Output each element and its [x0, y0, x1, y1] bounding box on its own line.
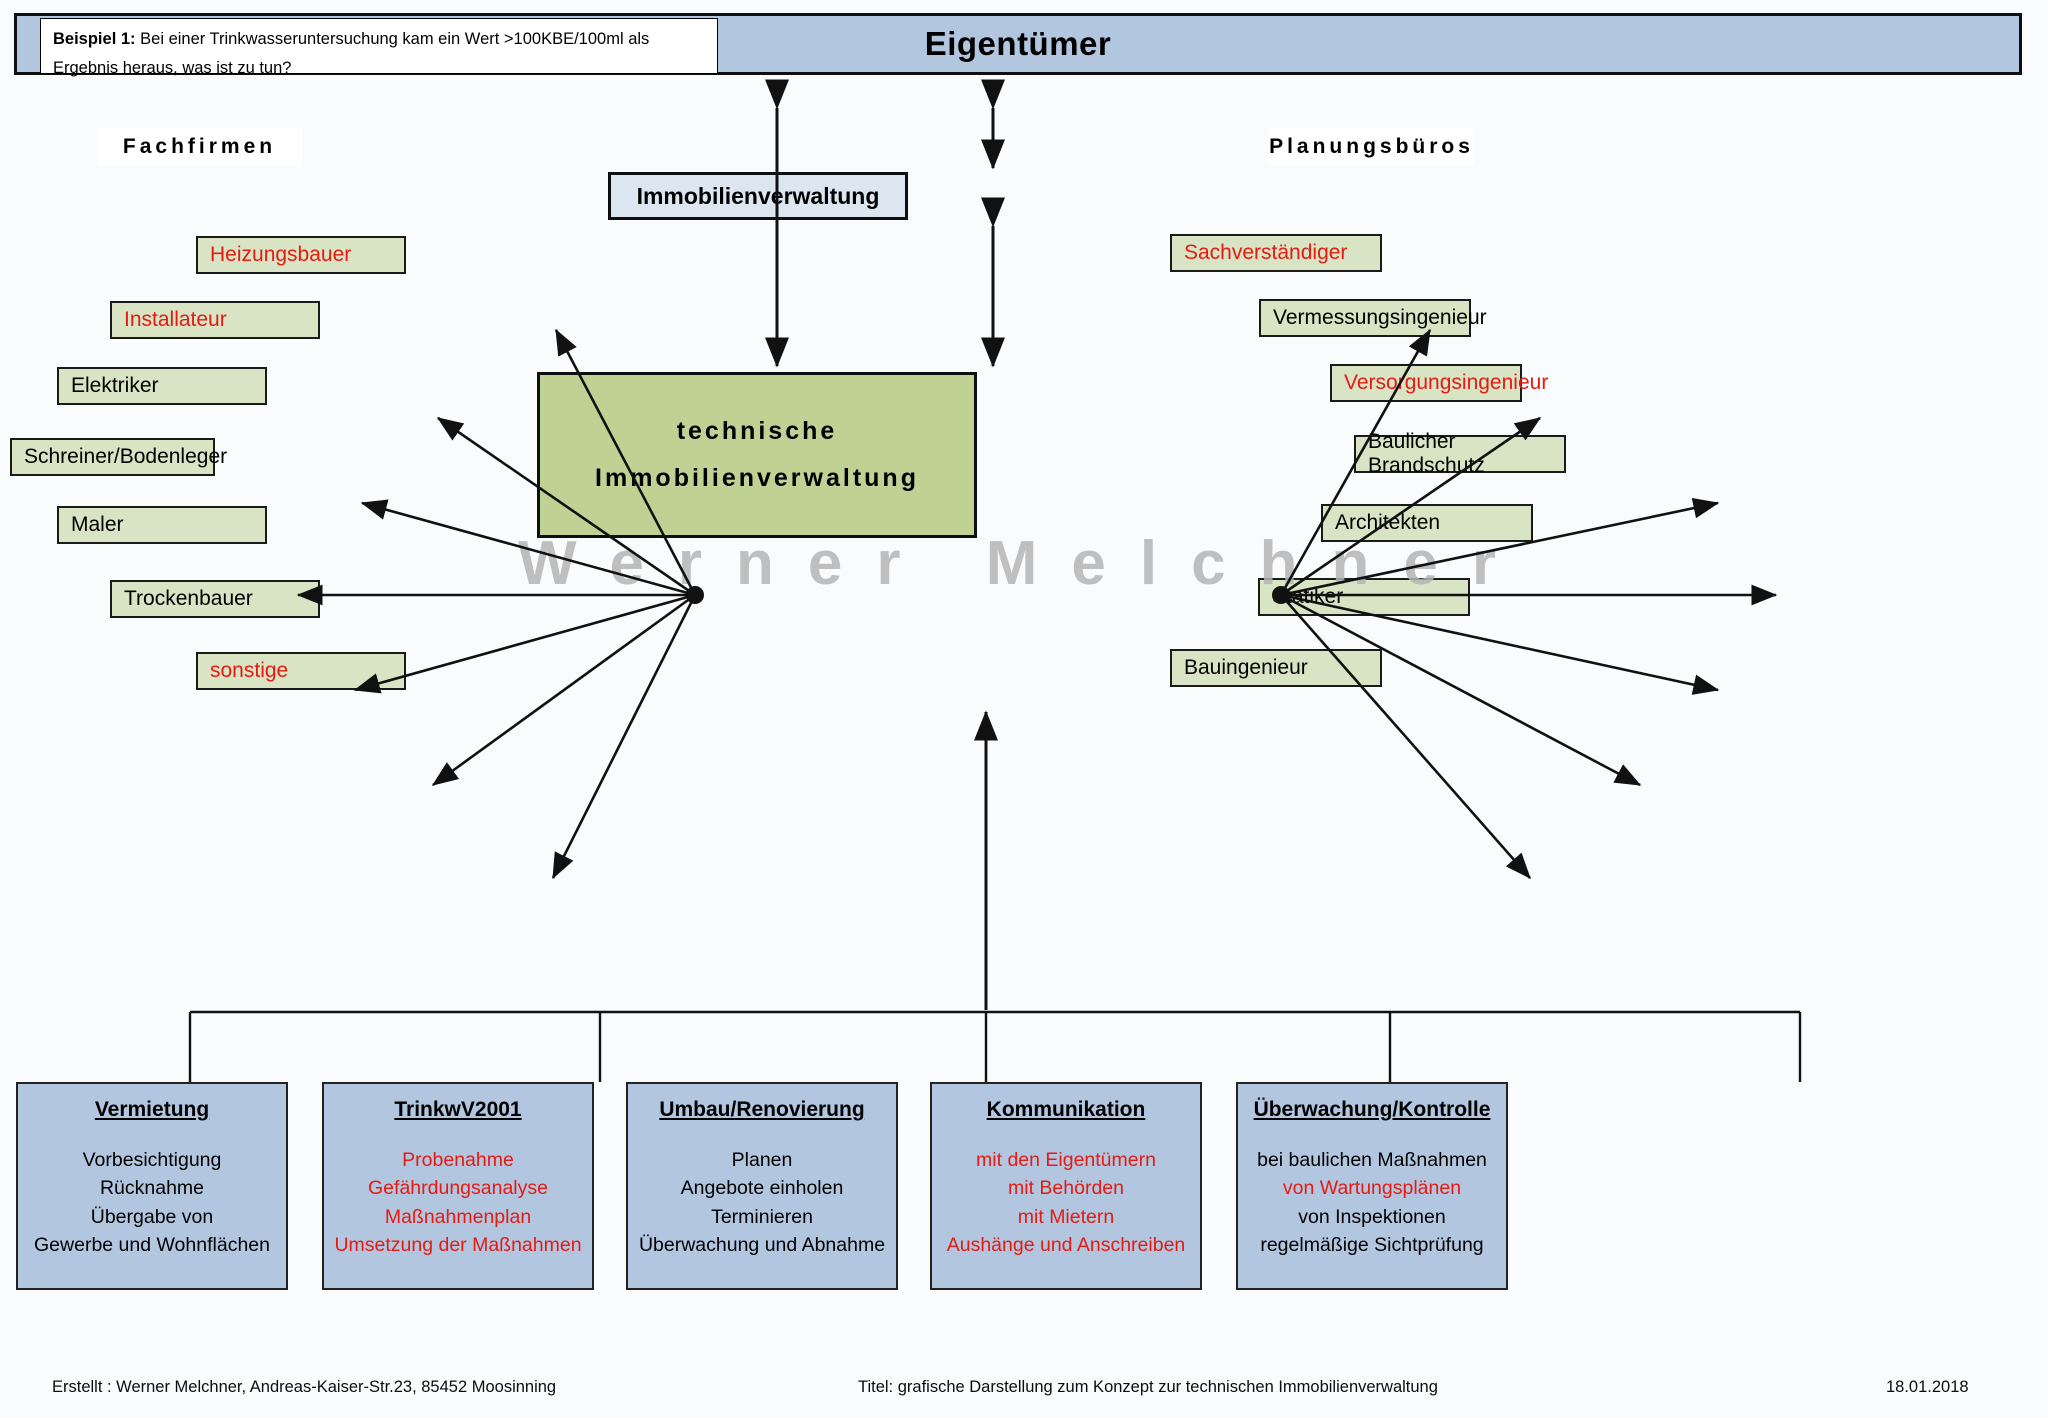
example-label: Beispiel 1: [53, 30, 136, 48]
panel-body: VorbesichtigungRücknahmeÜbergabe vonGewe… [18, 1146, 286, 1259]
node-fachfirma-installateur[interactable]: Installateur [110, 301, 320, 339]
panel-title: Überwachung/Kontrolle [1238, 1098, 1506, 1122]
panel-body: mit den Eigentümernmit Behördenmit Miete… [932, 1146, 1200, 1259]
panel-line: von Wartungsplänen [1238, 1174, 1506, 1202]
panel-line: Angebote einholen [628, 1174, 896, 1202]
node-label: Schreiner/Bodenleger [24, 445, 227, 469]
panel-line: von Inspektionen [1238, 1203, 1506, 1231]
node-planung-sachverst-ndiger[interactable]: Sachverständiger [1170, 234, 1382, 272]
node-label: Baulicher Brandschutz [1368, 430, 1564, 478]
footer-title: Titel: grafische Darstellung zum Konzept… [858, 1378, 1438, 1397]
panel-body: ProbenahmeGefährdungsanalyseMaßnahmenpla… [324, 1146, 592, 1259]
panel-line: Maßnahmenplan [324, 1203, 592, 1231]
node-label: Trockenbauer [124, 587, 253, 611]
panel-line: Planen [628, 1146, 896, 1174]
node-label: Sachverständiger [1184, 241, 1347, 265]
panel-line: bei baulichen Maßnahmen [1238, 1146, 1506, 1174]
footer-author: Erstellt : Werner Melchner, Andreas-Kais… [52, 1378, 556, 1397]
panel-umbau-renovierung[interactable]: Umbau/RenovierungPlanenAngebote einholen… [626, 1082, 898, 1290]
node-fachfirma-elektriker[interactable]: Elektriker [57, 367, 267, 405]
panel-title: TrinkwV2001 [324, 1098, 592, 1122]
panel-line: mit Behörden [932, 1174, 1200, 1202]
example-text: Bei einer Trinkwasseruntersuchung kam ei… [53, 30, 649, 77]
node-fachfirma-sonstige[interactable]: sonstige [196, 652, 406, 690]
panel-vermietung[interactable]: VermietungVorbesichtigungRücknahmeÜberga… [16, 1082, 288, 1290]
panel-line: Überwachung und Abnahme [628, 1231, 896, 1259]
panel-title: Kommunikation [932, 1098, 1200, 1122]
example-callout: Beispiel 1: Bei einer Trinkwasseruntersu… [40, 18, 718, 74]
panel-line: Vorbesichtigung [18, 1146, 286, 1174]
footer-date: 18.01.2018 [1886, 1378, 1969, 1397]
panel-line: Umsetzung der Maßnahmen [324, 1231, 592, 1259]
node-fachfirma-trockenbauer[interactable]: Trockenbauer [110, 580, 320, 618]
center-line-1: technische [677, 417, 838, 446]
node-planung-vermessungsingenieur[interactable]: Vermessungsingenieur [1259, 299, 1471, 337]
node-planung-architekten[interactable]: Architekten [1321, 504, 1533, 542]
node-label: Bauingenieur [1184, 656, 1308, 680]
panel-line: mit Mietern [932, 1203, 1200, 1231]
node-fachfirma-schreiner-bodenleger[interactable]: Schreiner/Bodenleger [10, 438, 215, 476]
node-technische-immobilienverwaltung[interactable]: technische Immobilienverwaltung [537, 372, 977, 538]
panel-line: Probenahme [324, 1146, 592, 1174]
node-fachfirma-maler[interactable]: Maler [57, 506, 267, 544]
node-label: Heizungsbauer [210, 243, 351, 267]
panel-trinkwv2001[interactable]: TrinkwV2001ProbenahmeGefährdungsanalyseM… [322, 1082, 594, 1290]
panel-body: bei baulichen Maßnahmenvon Wartungspläne… [1238, 1146, 1506, 1259]
panel-title: Vermietung [18, 1098, 286, 1122]
node-label: Maler [71, 513, 124, 537]
panel-title: Umbau/Renovierung [628, 1098, 896, 1122]
center-line-2: Immobilienverwaltung [595, 464, 919, 493]
node-planung-bauingenieur[interactable]: Bauingenieur [1170, 649, 1382, 687]
node-label: Versorgungsingenieur [1344, 371, 1548, 395]
panel-line: Gewerbe und Wohnflächen [18, 1231, 286, 1259]
panel--berwachung-kontrolle[interactable]: Überwachung/Kontrollebei baulichen Maßna… [1236, 1082, 1508, 1290]
panel-line: Rücknahme [18, 1174, 286, 1202]
node-planung-versorgungsingenieur[interactable]: Versorgungsingenieur [1330, 364, 1522, 402]
node-label: Elektriker [71, 374, 159, 398]
panel-body: PlanenAngebote einholenTerminierenÜberwa… [628, 1146, 896, 1259]
node-planung-baulicher-brandschutz[interactable]: Baulicher Brandschutz [1354, 435, 1566, 473]
node-planung-statiker[interactable]: Statiker [1258, 578, 1470, 616]
panel-line: Terminieren [628, 1203, 896, 1231]
node-label: sonstige [210, 659, 288, 683]
section-header-fachfirmen: Fachfirmen [97, 128, 302, 166]
panel-line: Übergabe von [18, 1203, 286, 1231]
section-header-planungsbueros: Planungsbüros [1269, 128, 1474, 166]
node-label: Statiker [1272, 585, 1343, 609]
node-label: Vermessungsingenieur [1273, 306, 1487, 330]
node-label: Installateur [124, 308, 227, 332]
panel-line: Gefährdungsanalyse [324, 1174, 592, 1202]
node-label: Architekten [1335, 511, 1440, 535]
panel-line: mit den Eigentümern [932, 1146, 1200, 1174]
node-fachfirma-heizungsbauer[interactable]: Heizungsbauer [196, 236, 406, 274]
node-immobilienverwaltung[interactable]: Immobilienverwaltung [608, 172, 908, 220]
panel-kommunikation[interactable]: Kommunikationmit den Eigentümernmit Behö… [930, 1082, 1202, 1290]
diagram-canvas: Werner Melchner [0, 0, 2048, 1418]
panel-line: Aushänge und Anschreiben [932, 1231, 1200, 1259]
panel-line: regelmäßige Sichtprüfung [1238, 1231, 1506, 1259]
